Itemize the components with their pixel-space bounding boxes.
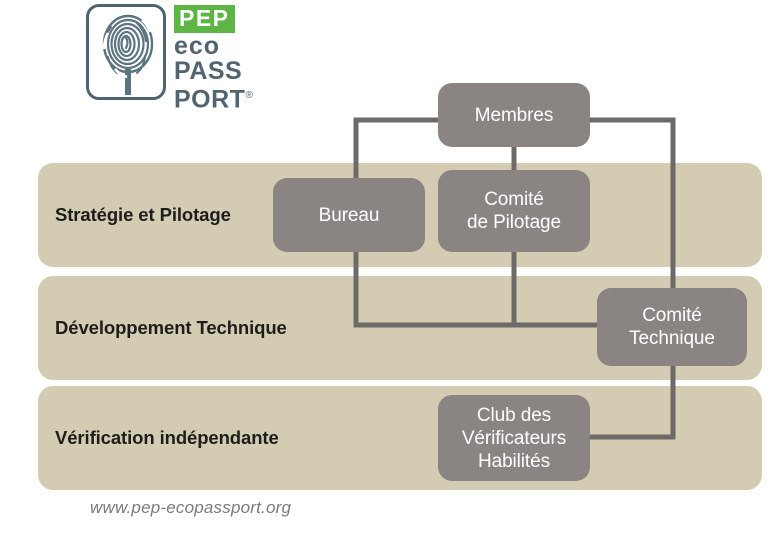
node-label-line-2: de Pilotage [467, 212, 561, 233]
fingerprint-tree-icon [95, 11, 161, 97]
band-label: Vérification indépendante [55, 386, 279, 490]
logo-frame [86, 4, 166, 100]
node-comite-technique[interactable]: ComitéTechnique [597, 288, 747, 366]
logo-word-pass: PASS [174, 59, 272, 83]
node-label: Club desVérificateursHabilités [462, 404, 566, 473]
website-url[interactable]: www.pep-ecopassport.org [90, 498, 291, 518]
band-verification-independante: Vérification indépendante [38, 386, 762, 490]
node-label: Bureau [319, 204, 380, 227]
logo-wordmark: PEP eco PASS PORT® [174, 5, 272, 103]
registered-trademark-icon: ® [245, 90, 252, 101]
pep-ecopassport-logo: PEP eco PASS PORT® [86, 4, 272, 104]
node-label-line-1: Comité [484, 189, 544, 210]
node-label-line-1: Comité [642, 305, 702, 326]
logo-word-eco: eco [174, 34, 272, 58]
node-label: Comitéde Pilotage [467, 188, 561, 234]
diagram-canvas: PEP eco PASS PORT® Stratégie et Pilotage… [0, 0, 776, 536]
node-label-line-1: Club des [477, 405, 551, 426]
node-label-line-3: Habilités [478, 451, 550, 472]
node-bureau[interactable]: Bureau [273, 178, 425, 252]
node-label: ComitéTechnique [629, 304, 715, 350]
node-membres[interactable]: Membres [438, 83, 590, 147]
node-label: Membres [475, 104, 553, 127]
band-label: Développement Technique [55, 276, 287, 380]
node-label-line-2: Technique [629, 328, 715, 349]
logo-word-port-text: PORT [174, 85, 245, 113]
band-label: Stratégie et Pilotage [55, 163, 231, 267]
node-comite-de-pilotage[interactable]: Comitéde Pilotage [438, 170, 590, 252]
logo-word-port: PORT® [174, 84, 272, 111]
node-club-des-verificateurs-habilites[interactable]: Club desVérificateursHabilités [438, 395, 590, 481]
logo-pep-badge: PEP [174, 5, 235, 33]
node-label-line-2: Vérificateurs [462, 428, 566, 449]
